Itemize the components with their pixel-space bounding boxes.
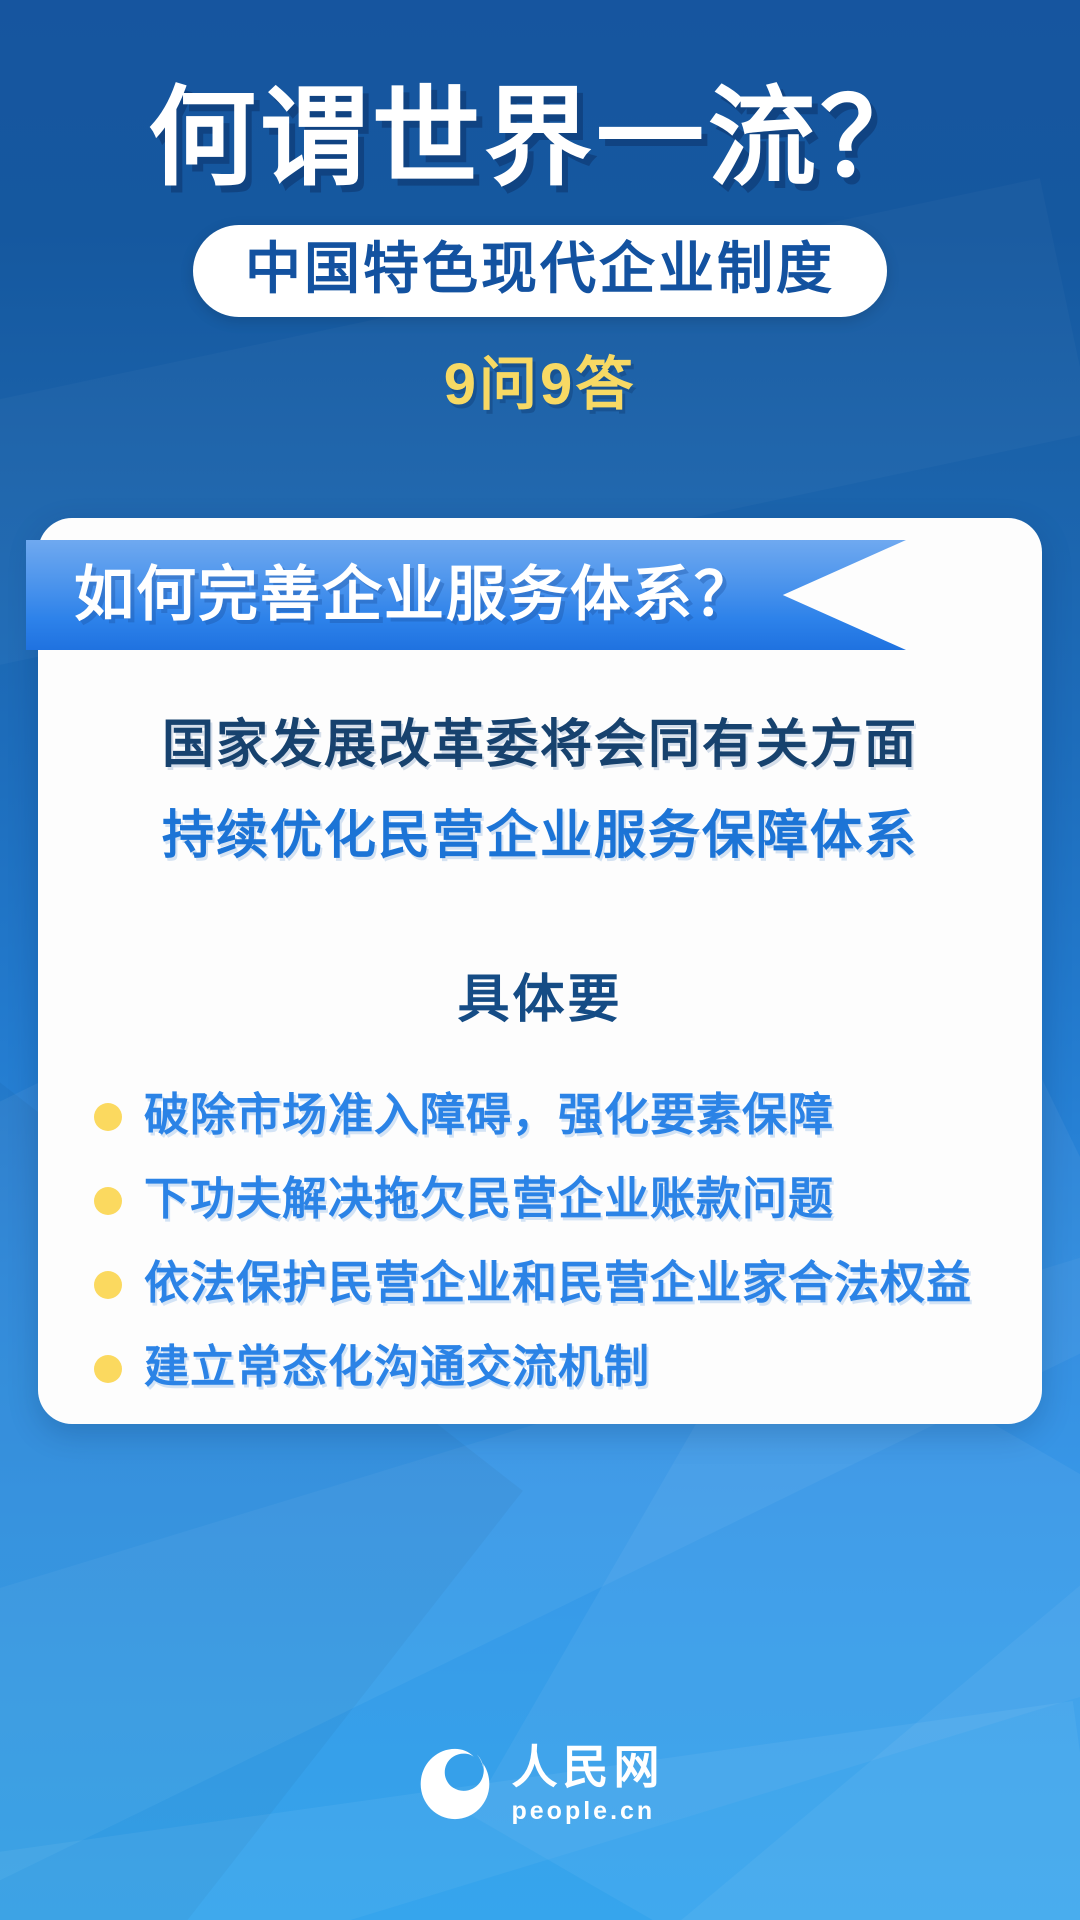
list-item-label: 破除市场准入障碍，强化要素保障 (144, 1088, 834, 1142)
content-card: 如何完善企业服务体系？ 国家发展改革委将会同有关方面 持续优化民营企业服务保障体… (38, 518, 1042, 1424)
lead-line-1: 国家发展改革委将会同有关方面 (38, 712, 1042, 779)
list-item-label: 建立常态化沟通交流机制 (144, 1340, 650, 1394)
question-banner-label: 如何完善企业服务体系？ (74, 565, 756, 625)
list-item: 破除市场准入障碍，强化要素保障 (94, 1088, 990, 1142)
subtitle-pill: 中国特色现代企业制度 (193, 225, 887, 317)
bullet-dot-icon (94, 1271, 122, 1299)
footer-brand: 人民网 people.cn (0, 1744, 1080, 1824)
list-item: 依法保护民营企业和民营企业家合法权益 (94, 1256, 990, 1310)
brand-text: 人民网 people.cn (512, 1744, 665, 1824)
question-banner: 如何完善企业服务体系？ (26, 540, 906, 650)
bullet-dot-icon (94, 1355, 122, 1383)
list-item-label: 下功夫解决拖欠民营企业账款问题 (144, 1172, 834, 1226)
question-banner-wrap: 如何完善企业服务体系？ (38, 540, 1042, 650)
brand-name-cn: 人民网 (512, 1744, 665, 1790)
list-item: 下功夫解决拖欠民营企业账款问题 (94, 1172, 990, 1226)
list-item: 建立常态化沟通交流机制 (94, 1340, 990, 1394)
bullet-dot-icon (94, 1187, 122, 1215)
people-cn-globe-icon (416, 1745, 494, 1823)
bullet-list: 破除市场准入障碍，强化要素保障 下功夫解决拖欠民营企业账款问题 依法保护民营企业… (38, 1088, 1042, 1394)
lead-paragraph: 国家发展改革委将会同有关方面 持续优化民营企业服务保障体系 (38, 712, 1042, 869)
list-item-label: 依法保护民营企业和民营企业家合法权益 (144, 1256, 972, 1310)
poster-header: 何谓世界一流？ 中国特色现代企业制度 9问9答 (0, 0, 1080, 421)
lead-line-2: 持续优化民营企业服务保障体系 (38, 803, 1042, 870)
page-title: 何谓世界一流？ (0, 78, 1080, 199)
subtitle-pill-label: 中国特色现代企业制度 (245, 237, 835, 300)
sub-heading: 具体要 (38, 957, 1042, 1032)
bg-streak (655, 1556, 1080, 1920)
qa-count-label: 9问9答 (0, 337, 1080, 421)
bullet-dot-icon (94, 1103, 122, 1131)
brand-name-en: people.cn (512, 1799, 656, 1824)
